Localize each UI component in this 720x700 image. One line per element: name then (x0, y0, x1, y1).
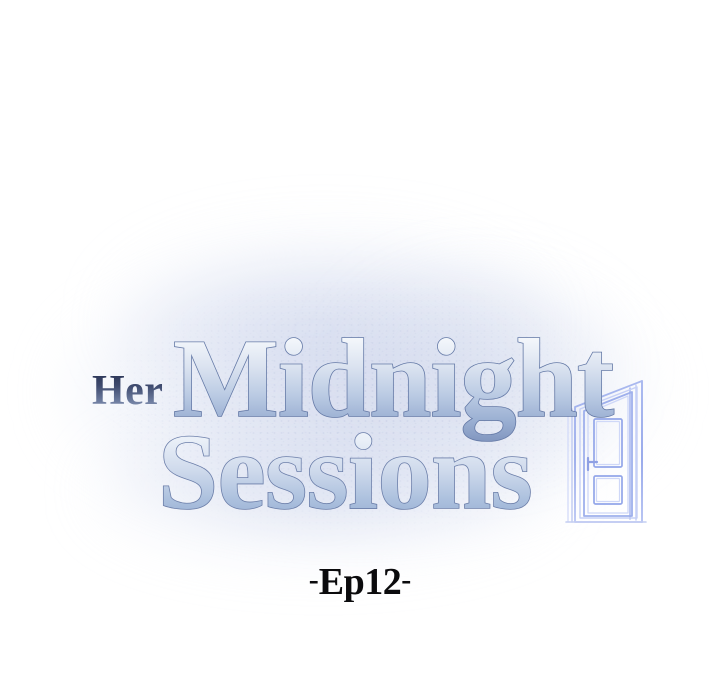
episode-dash-right: - (401, 563, 411, 596)
episode-label: -Ep12- (0, 563, 720, 601)
watercolor-wash-upper (120, 236, 550, 406)
watercolor-wash-main (58, 258, 658, 523)
door-icon (566, 381, 646, 522)
title-card: Her Midnight Sessions -Ep12- (0, 0, 720, 700)
episode-number: Ep12 (319, 561, 401, 603)
episode-dash-left: - (309, 563, 319, 596)
title-word-her: Her (92, 368, 163, 414)
title-word-midnight: Midnight (173, 317, 614, 441)
watercolor-speckle-texture (110, 280, 610, 530)
door-handle-icon (588, 458, 597, 470)
watercolor-wash-right (330, 262, 630, 472)
title-word-sessions: Sessions (158, 413, 532, 532)
watercolor-wash-lower (92, 420, 562, 560)
